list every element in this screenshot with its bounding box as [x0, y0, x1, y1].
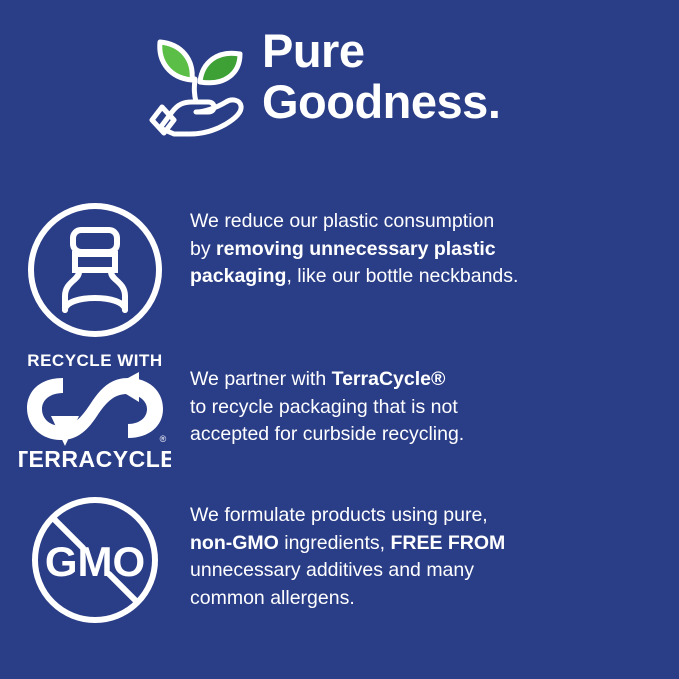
- text-run: , like our bottle neckbands.: [286, 265, 518, 287]
- text-line: We reduce our plastic consumption: [190, 208, 665, 236]
- text-run: We formulate products using pure,: [190, 504, 488, 526]
- header: Pure Goodness.: [0, 24, 679, 154]
- bottle-neckband-circle-icon: [21, 196, 169, 344]
- text-run: We partner with: [190, 368, 332, 390]
- feature-icon-wrapper: GMO: [0, 494, 190, 626]
- text-line: common allergens.: [190, 585, 665, 613]
- text-line: packaging, like our bottle neckbands.: [190, 263, 665, 291]
- feature-text-plastic: We reduce our plastic consumptionby remo…: [190, 196, 679, 291]
- feature-row-recycle: RECYCLE WITH ® TERRACYCLE We partner wit…: [0, 350, 679, 472]
- text-line: We partner with TerraCycle®: [190, 366, 665, 394]
- text-line: by removing unnecessary plastic: [190, 236, 665, 264]
- text-line: non-GMO ingredients, FREE FROM: [190, 530, 665, 558]
- no-gmo-icon: GMO: [23, 494, 167, 626]
- gmo-label: GMO: [45, 538, 145, 585]
- text-run-bold: removing unnecessary plastic: [216, 238, 496, 260]
- feature-text-recycle: We partner with TerraCycle®to recycle pa…: [190, 350, 679, 449]
- hand-holding-sprout-icon: [148, 32, 250, 142]
- text-run-bold: packaging: [190, 265, 286, 287]
- text-line: unnecessary additives and many: [190, 557, 665, 585]
- terracycle-bottom-text: TERRACYCLE: [19, 446, 171, 472]
- pure-goodness-infographic: Pure Goodness. We reduce our plastic con…: [0, 0, 679, 679]
- registered-trademark-icon: ®: [160, 434, 167, 444]
- text-line: accepted for curbside recycling.: [190, 421, 665, 449]
- feature-text-gmo: We formulate products using pure,non-GMO…: [190, 494, 679, 613]
- text-line: We formulate products using pure,: [190, 502, 665, 530]
- text-run: We reduce our plastic consumption: [190, 210, 494, 232]
- text-run: accepted for curbside recycling.: [190, 423, 464, 445]
- text-run: ingredients,: [279, 532, 391, 554]
- feature-icon-wrapper: RECYCLE WITH ® TERRACYCLE: [0, 350, 190, 472]
- text-run: to recycle packaging that is not: [190, 396, 458, 418]
- text-run-bold: non-GMO: [190, 532, 279, 554]
- text-run: by: [190, 238, 216, 260]
- terracycle-top-text: RECYCLE WITH: [27, 351, 162, 370]
- terracycle-infinity-symbol: [27, 372, 163, 446]
- feature-row-gmo: GMO We formulate products using pure,non…: [0, 494, 679, 626]
- page-title: Pure Goodness.: [262, 24, 500, 128]
- feature-row-plastic: We reduce our plastic consumptionby remo…: [0, 196, 679, 344]
- text-run-bold: TerraCycle®: [332, 368, 446, 390]
- text-run: common allergens.: [190, 587, 355, 609]
- feature-icon-wrapper: [0, 196, 190, 344]
- text-run-bold: FREE FROM: [390, 532, 505, 554]
- text-run: unnecessary additives and many: [190, 559, 474, 581]
- terracycle-logo-icon: RECYCLE WITH ® TERRACYCLE: [19, 350, 171, 472]
- text-line: to recycle packaging that is not: [190, 394, 665, 422]
